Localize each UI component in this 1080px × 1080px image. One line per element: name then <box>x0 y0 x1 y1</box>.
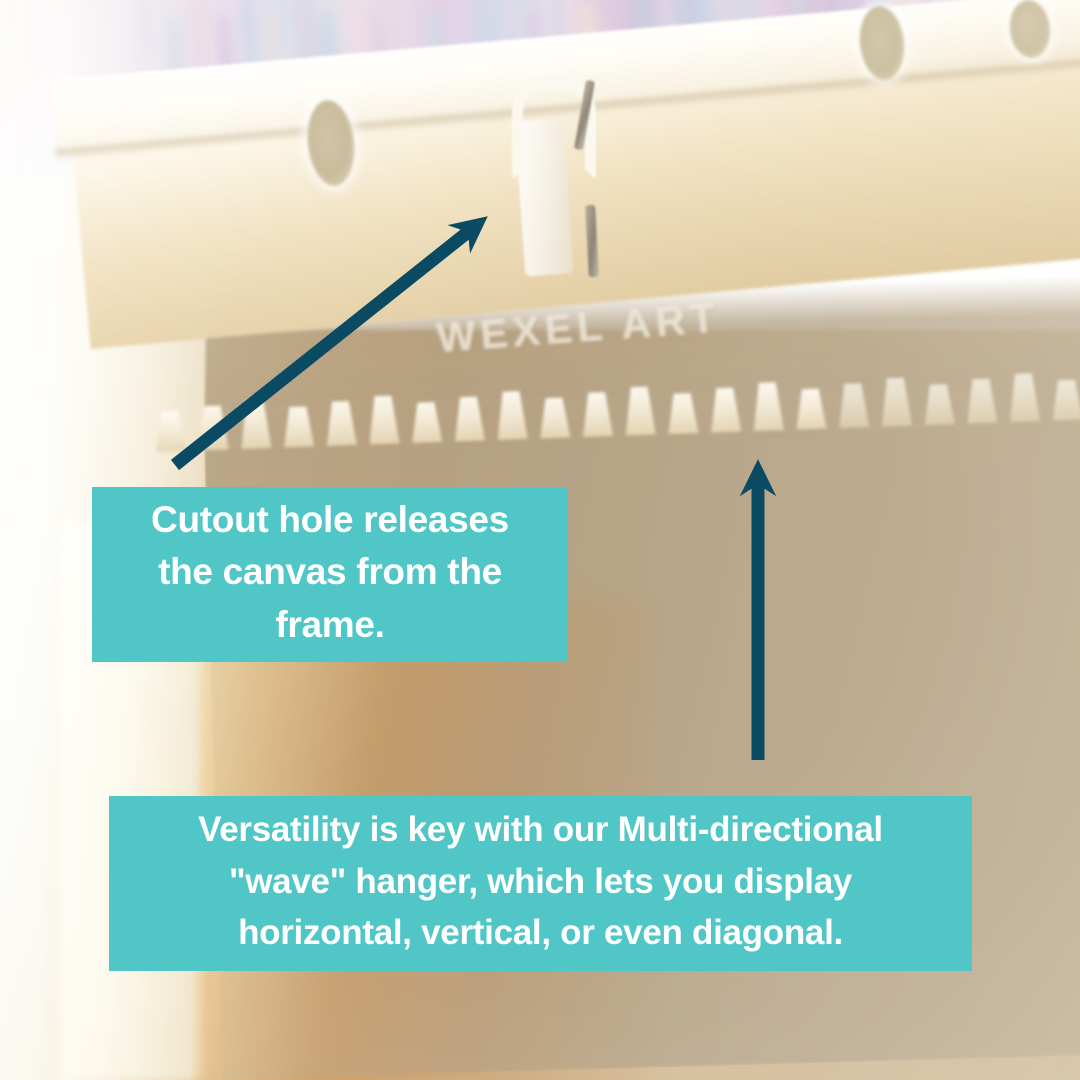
caption-2-line-3: horizontal, vertical, or even diagonal. <box>127 907 954 958</box>
infographic-canvas: WEXEL ART Cutout hole releases the canva… <box>0 0 1080 1080</box>
wave-hanger-tooth <box>667 393 698 434</box>
wave-hanger-tooth <box>283 406 314 447</box>
wave-hanger-tooth <box>155 411 186 452</box>
wave-hanger-tooth <box>539 397 570 438</box>
wave-hanger-tooth <box>1008 373 1040 422</box>
caption-1-line-1: Cutout hole releases <box>108 494 552 547</box>
caption-box-versatility: Versatility is key with our Multi-direct… <box>109 796 972 971</box>
wave-hanger-tooth <box>197 405 229 450</box>
wave-hanger-tooth <box>368 395 400 444</box>
caption-box-cutout: Cutout hole releases the canvas from the… <box>92 487 568 662</box>
wave-hanger-tooth <box>240 400 272 449</box>
caption-1-line-3: frame. <box>108 599 552 652</box>
caption-2-line-1: Versatility is key with our Multi-direct… <box>127 804 954 855</box>
wave-hanger-tooth <box>624 386 656 435</box>
wave-hanger-tooth <box>966 378 998 423</box>
wave-hanger-tooth <box>582 392 614 437</box>
wave-hanger-tooth <box>795 388 826 429</box>
wave-hanger-tooth <box>838 383 870 428</box>
wave-hanger-tooth <box>325 401 357 446</box>
wave-hanger-tooth <box>453 396 485 441</box>
caption-2-line-2: "wave" hanger, which lets you display <box>127 856 954 907</box>
wave-hanger-tooth <box>411 402 442 443</box>
wave-hanger-tooth <box>923 384 954 425</box>
wave-hanger-tooth <box>752 382 784 431</box>
wave-hanger-tooth <box>710 387 742 432</box>
wave-hanger-tooth <box>1051 379 1080 420</box>
wave-hanger-tooth <box>880 377 912 426</box>
caption-1-line-2: the canvas from the <box>108 546 552 599</box>
wave-hanger-tooth <box>496 391 528 440</box>
